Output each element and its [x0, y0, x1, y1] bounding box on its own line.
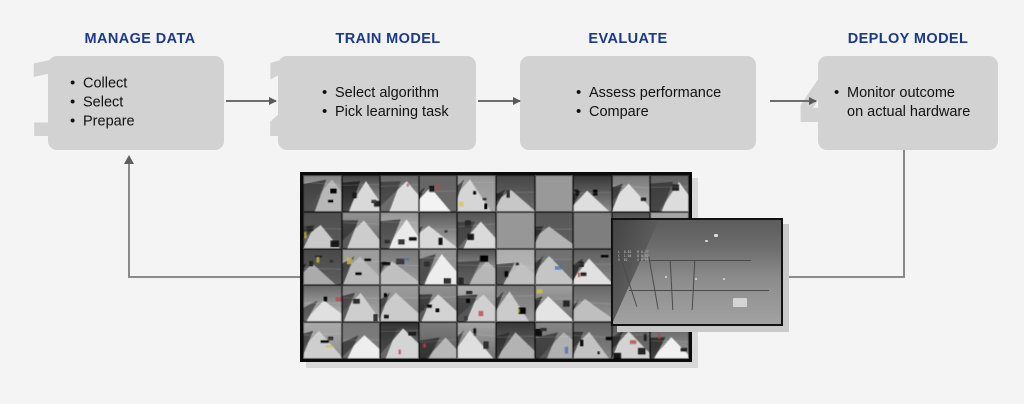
bullet-select-algorithm: Select algorithm — [322, 84, 449, 103]
dataset-thumbnail — [496, 212, 535, 249]
inference-preview-scene: L 0.81 R 0.77 C 1.04 D 0.92 V 62 S 0.05 — [613, 220, 781, 324]
dataset-thumbnail — [496, 285, 535, 322]
bullet-collect: Collect — [70, 75, 135, 94]
step-card-train-model[interactable]: Select algorithm Pick learning task — [278, 56, 476, 150]
dataset-thumbnail — [303, 175, 342, 212]
lane-line-4 — [692, 260, 696, 310]
bullet-prepare: Prepare — [70, 113, 135, 132]
dataset-thumbnail — [419, 175, 458, 212]
dataset-thumbnail — [419, 285, 458, 322]
dataset-thumbnail — [303, 285, 342, 322]
bullet-select: Select — [70, 94, 135, 113]
lane-line-2 — [648, 256, 658, 309]
lane-line-3 — [670, 260, 674, 310]
dataset-thumbnail — [419, 212, 458, 249]
dataset-thumbnail — [380, 212, 419, 249]
bullet-monitor-outcome: Monitor outcome on actual hardware — [834, 84, 970, 122]
bullet-pick-learning-task: Pick learning task — [322, 103, 449, 122]
dataset-thumbnail — [496, 175, 535, 212]
dataset-thumbnail — [303, 249, 342, 286]
dataset-thumbnail — [535, 285, 574, 322]
dataset-thumbnail — [419, 322, 458, 359]
dataset-thumbnail — [573, 285, 612, 322]
lane-box-bottom — [629, 290, 769, 291]
dataset-thumbnail — [457, 249, 496, 286]
vehicle-glow-2 — [714, 234, 718, 237]
dataset-thumbnail — [303, 212, 342, 249]
step-card-manage-data[interactable]: Collect Select Prepare — [48, 56, 224, 150]
dataset-thumbnail — [496, 322, 535, 359]
bullet-assess-performance: Assess performance — [576, 84, 721, 103]
step-card-deploy-model[interactable]: Monitor outcome on actual hardware — [818, 56, 998, 150]
vehicle-glow-1 — [733, 298, 747, 307]
dataset-thumbnail — [650, 175, 689, 212]
dataset-thumbnail — [496, 249, 535, 286]
bullet-monitor-outcome-line2: on actual hardware — [847, 103, 970, 122]
dataset-thumbnail — [342, 212, 381, 249]
step-card-evaluate[interactable]: Assess performance Compare — [520, 56, 756, 150]
marker-dot-2 — [695, 278, 697, 280]
dataset-thumbnail — [457, 285, 496, 322]
dataset-thumbnail — [573, 175, 612, 212]
hud-readout: L 0.81 R 0.77 C 1.04 D 0.92 V 62 S 0.05 — [618, 250, 649, 262]
connector-arrow-3-to-4 — [770, 100, 816, 102]
feedback-segment-up-left — [128, 163, 130, 277]
dataset-thumbnail — [342, 285, 381, 322]
dataset-thumbnail — [380, 249, 419, 286]
dataset-thumbnail — [457, 322, 496, 359]
dataset-thumbnail — [342, 322, 381, 359]
dataset-thumbnail — [573, 249, 612, 286]
vehicle-glow-3 — [705, 240, 708, 242]
marker-dot-3 — [723, 278, 725, 280]
dataset-thumbnail — [535, 212, 574, 249]
marker-dot-1 — [665, 276, 667, 278]
dataset-thumbnail — [573, 212, 612, 249]
feedback-arrowhead-to-step-1 — [124, 155, 134, 164]
dataset-thumbnail — [342, 249, 381, 286]
dataset-thumbnail — [535, 175, 574, 212]
feedback-segment-down-right — [903, 150, 905, 278]
lane-box-top — [639, 260, 751, 261]
dataset-thumbnail — [380, 322, 419, 359]
dataset-thumbnail — [380, 285, 419, 322]
dataset-thumbnail — [535, 249, 574, 286]
dataset-thumbnail — [457, 212, 496, 249]
dataset-thumbnail — [380, 175, 419, 212]
inference-preview[interactable]: L 0.81 R 0.77 C 1.04 D 0.92 V 62 S 0.05 — [611, 218, 783, 326]
dataset-thumbnail — [612, 175, 651, 212]
connector-arrow-2-to-3 — [478, 100, 520, 102]
dataset-thumbnail — [342, 175, 381, 212]
dataset-thumbnail — [535, 322, 574, 359]
dataset-thumbnail — [303, 322, 342, 359]
dataset-thumbnail — [573, 322, 612, 359]
bullet-compare: Compare — [576, 103, 721, 122]
dataset-thumbnail — [419, 249, 458, 286]
dataset-thumbnail — [457, 175, 496, 212]
connector-arrow-1-to-2 — [226, 100, 276, 102]
diagram-canvas: MANAGE DATA TRAIN MODEL EVALUATE DEPLOY … — [0, 0, 1024, 404]
